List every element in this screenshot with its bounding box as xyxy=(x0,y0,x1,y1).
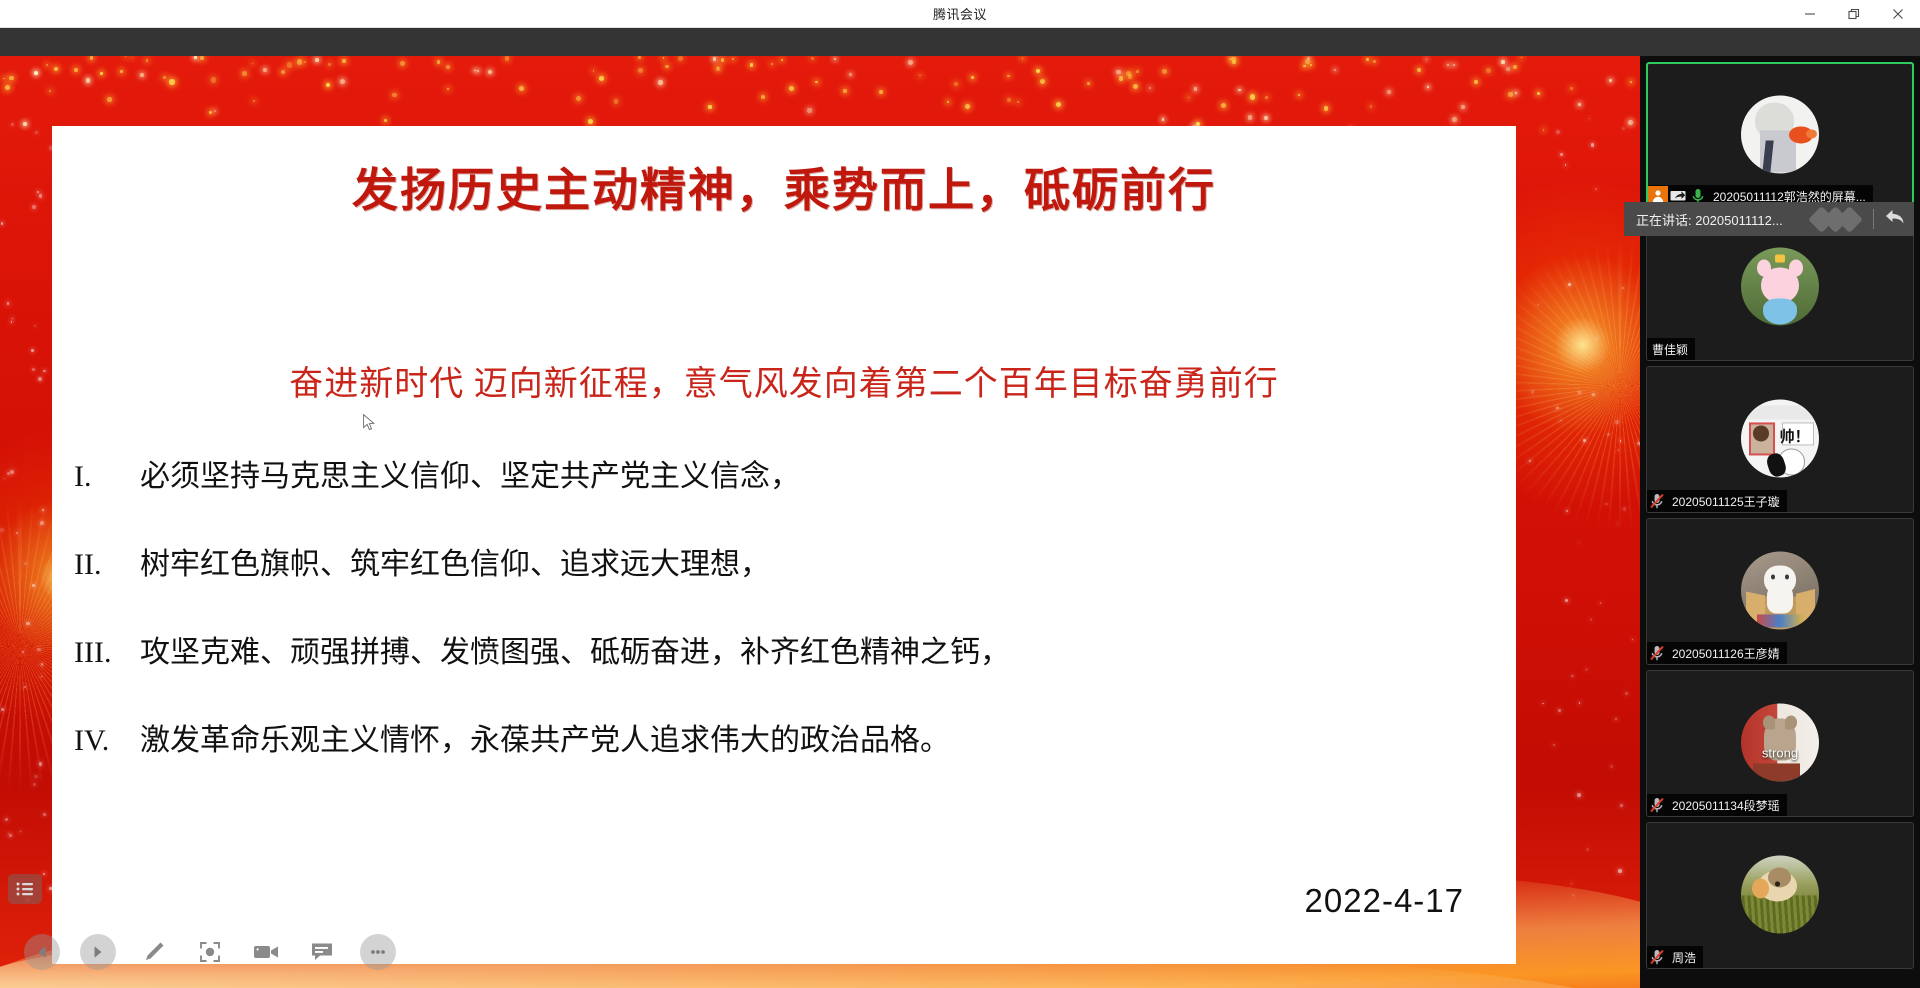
spotlight-button[interactable] xyxy=(192,934,228,970)
participant-name: 曹佳颖 xyxy=(1652,341,1688,358)
mic-badge xyxy=(1647,795,1667,815)
slide-bullet-number: III. xyxy=(64,636,140,670)
more-options-button[interactable] xyxy=(360,934,396,970)
participant-name-bar: 20205011126王彦婧 xyxy=(1647,642,1787,664)
minimize-button[interactable] xyxy=(1788,0,1832,28)
slide-bullet-list: I.必须坚持马克思主义信仰、坚定共产党主义信念，II.树牢红色旗帜、筑牢红色信仰… xyxy=(64,451,1516,759)
participant-tile[interactable]: 帅！20205011125王子璇 xyxy=(1646,366,1914,513)
avatar: strong xyxy=(1741,703,1819,781)
mic-badge xyxy=(1647,947,1667,967)
participant-name-bar: 曹佳颖 xyxy=(1647,338,1695,360)
slide-bullet-text: 树牢红色旗帜、筑牢红色信仰、追求远大理想， xyxy=(140,539,770,583)
participant-name-bar: 20205011125王子璇 xyxy=(1647,490,1787,512)
toast-divider xyxy=(1873,209,1874,229)
slide-bullet-item: II.树牢红色旗帜、筑牢红色信仰、追求远大理想， xyxy=(64,539,1516,583)
ellipsis-icon xyxy=(368,942,388,962)
record-button[interactable] xyxy=(248,934,284,970)
avatar xyxy=(1741,855,1819,933)
participant-name: 周浩 xyxy=(1672,949,1696,966)
presenter-toolbar xyxy=(24,934,396,970)
signal-diamonds-icon xyxy=(1817,210,1859,229)
slide-bullet-item: IV.激发革命乐观主义情怀，永葆共产党人追求伟大的政治品格。 xyxy=(64,715,1516,759)
participant-tile[interactable]: 曹佳颖 xyxy=(1646,214,1914,361)
slide-bullet-text: 攻坚克难、顽强拼搏、发愤图强、砥砺奋进，补齐红色精神之钙， xyxy=(140,627,1010,671)
slideshow-menu-button[interactable] xyxy=(8,874,42,904)
video-camera-icon xyxy=(252,939,280,965)
arrow-right-icon xyxy=(89,943,107,961)
previous-slide-button[interactable] xyxy=(24,934,60,970)
shared-screen-area[interactable]: 发扬历史主动精神，乘势而上，砥砺前行 奋进新时代 迈向新征程，意气风发向着第二个… xyxy=(0,56,1640,988)
participant-tile[interactable]: 20205011126王彦婧 xyxy=(1646,518,1914,665)
pen-tool-button[interactable] xyxy=(136,934,172,970)
restore-button[interactable] xyxy=(1832,0,1876,28)
microphone-muted-icon xyxy=(1648,492,1666,510)
window-controls xyxy=(1788,0,1920,28)
avatar xyxy=(1741,551,1819,629)
slide-bullet-number: II. xyxy=(64,548,140,582)
slide-bullet-text: 激发革命乐观主义情怀，永葆共产党人追求伟大的政治品格。 xyxy=(140,715,950,759)
pen-icon xyxy=(141,939,167,965)
minimize-icon xyxy=(1804,8,1816,20)
slide-bullet-number: IV. xyxy=(64,724,140,758)
participant-name-bar: 周浩 xyxy=(1647,946,1703,968)
mic-badge xyxy=(1647,643,1667,663)
slide-bullet-item: I.必须坚持马克思主义信仰、坚定共产党主义信念， xyxy=(64,451,1516,495)
participant-tile[interactable]: strong20205011134段梦瑶 xyxy=(1646,670,1914,817)
slide-title: 发扬历史主动精神，乘势而上，砥砺前行 xyxy=(52,154,1516,220)
collapse-roster-button[interactable] xyxy=(1884,208,1906,231)
avatar xyxy=(1741,247,1819,325)
slide-bullet-number: I. xyxy=(64,460,140,494)
participant-tile[interactable]: 20205011112郭浩然的屏幕... xyxy=(1646,62,1914,209)
slide-subtitle: 奋进新时代 迈向新征程，意气风发向着第二个百年目标奋勇前行 xyxy=(52,356,1516,405)
participant-name-bar: 20205011134段梦瑶 xyxy=(1647,794,1787,816)
close-button[interactable] xyxy=(1876,0,1920,28)
participant-list[interactable]: 20205011112郭浩然的屏幕...曹佳颖帅！20205011125王子璇2… xyxy=(1640,56,1920,988)
participant-name: 20205011126王彦婧 xyxy=(1672,645,1780,662)
chat-bubble-icon xyxy=(309,939,335,965)
close-icon xyxy=(1892,8,1904,20)
slide-bullet-text: 必须坚持马克思主义信仰、坚定共产党主义信念， xyxy=(140,451,800,495)
now-speaking-toast: 正在讲话: 20205011112... xyxy=(1624,202,1914,236)
slide-date: 2022-4-17 xyxy=(1305,882,1464,920)
microphone-muted-icon xyxy=(1648,948,1666,966)
meeting-stage: 发扬历史主动精神，乘势而上，砥砺前行 奋进新时代 迈向新征程，意气风发向着第二个… xyxy=(0,28,1920,988)
window-title-bar: 腾讯会议 xyxy=(0,0,1920,28)
spotlight-icon xyxy=(197,939,223,965)
reply-arrow-icon xyxy=(1884,208,1906,226)
now-speaking-label: 正在讲话: 20205011112... xyxy=(1636,210,1807,229)
participant-tile[interactable]: 周浩 xyxy=(1646,822,1914,969)
restore-icon xyxy=(1848,8,1860,20)
window-title: 腾讯会议 xyxy=(933,4,987,23)
next-slide-button[interactable] xyxy=(80,934,116,970)
arrow-left-icon xyxy=(33,943,51,961)
avatar xyxy=(1741,95,1819,173)
mic-badge xyxy=(1647,491,1667,511)
menu-list-icon xyxy=(16,882,34,896)
slide-canvas: 发扬历史主动精神，乘势而上，砥砺前行 奋进新时代 迈向新征程，意气风发向着第二个… xyxy=(52,126,1516,964)
avatar: 帅！ xyxy=(1741,399,1819,477)
participant-name: 20205011125王子璇 xyxy=(1672,493,1780,510)
host-person-icon xyxy=(1651,189,1665,203)
annotation-button[interactable] xyxy=(304,934,340,970)
slide-bullet-item: III.攻坚克难、顽强拼搏、发愤图强、砥砺奋进，补齐红色精神之钙， xyxy=(64,627,1516,671)
microphone-muted-icon xyxy=(1648,644,1666,662)
microphone-muted-icon xyxy=(1648,796,1666,814)
participant-name: 20205011134段梦瑶 xyxy=(1672,797,1780,814)
mouse-cursor-icon xyxy=(363,414,376,432)
